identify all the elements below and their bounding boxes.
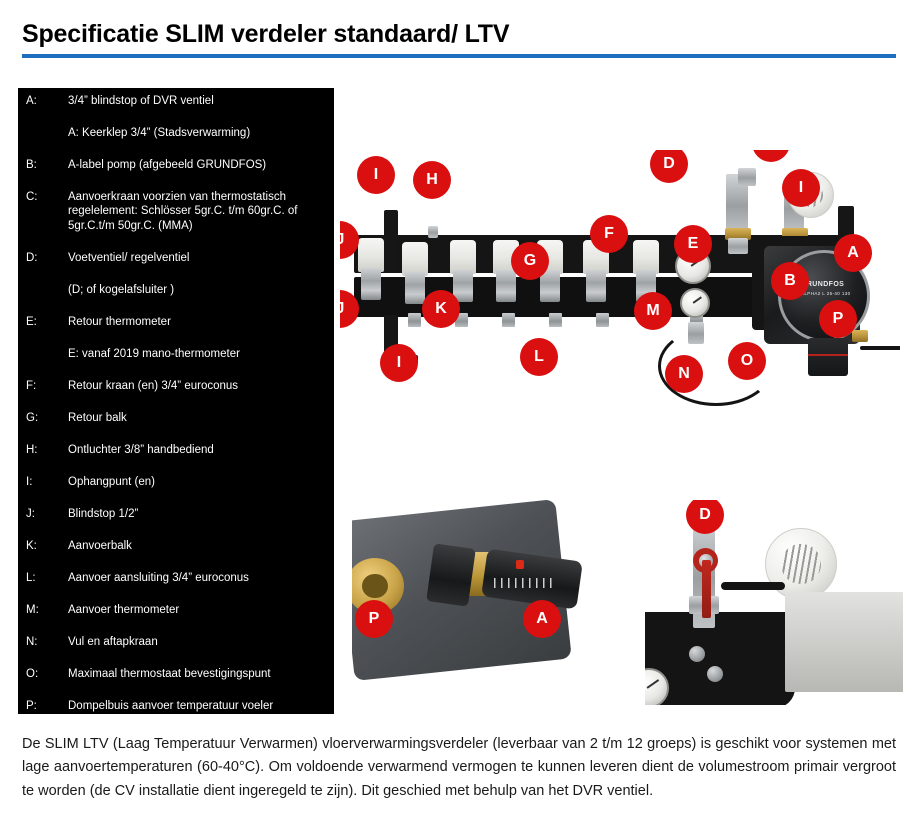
- legend-text: Vul en aftapkraan: [68, 635, 326, 649]
- valve-cap: [633, 240, 659, 274]
- power-cable: [860, 346, 900, 350]
- black-hose: [721, 582, 785, 590]
- callout-badge-f: F: [590, 215, 628, 253]
- legend-text: Retour balk: [68, 411, 326, 425]
- legend-key: J:: [26, 507, 62, 521]
- page-root: Specificatie SLIM verdeler standaard/ LT…: [0, 0, 913, 827]
- legend-key: A:: [26, 94, 62, 108]
- legend-text: Blindstop 1/2”: [68, 507, 326, 521]
- legend-text: Aanvoer thermometer: [68, 603, 326, 617]
- callout-badge-d: D: [650, 150, 688, 183]
- legend-key: O:: [26, 667, 62, 681]
- legend-key: N:: [26, 635, 62, 649]
- legend-text: Dompelbuis aanvoer temperatuur voeler: [68, 699, 326, 713]
- legend-key: D:: [26, 251, 62, 265]
- valve-cap: [358, 238, 384, 272]
- legend-key: L:: [26, 571, 62, 585]
- callout-badge-e: E: [674, 225, 712, 263]
- legend-text: (D; of kogelafsluiter ): [68, 283, 326, 297]
- legend-key: M:: [26, 603, 62, 617]
- legend-key: E:: [26, 315, 62, 329]
- ontluchter-handbediend: [428, 226, 438, 238]
- legend-text: Aanvoerkraan voorzien van thermostatisch…: [68, 190, 326, 233]
- legend-text: Ophangpunt (en): [68, 475, 326, 489]
- valve-body: [496, 270, 516, 302]
- valve-cap: [450, 240, 476, 274]
- callout-badge-m: M: [634, 292, 672, 330]
- legend-key: K:: [26, 539, 62, 553]
- pump-model-label: ALPHA2 L 25-40 130: [801, 291, 851, 296]
- callout-badge-p: P: [819, 300, 857, 338]
- callout-badge-k: K: [422, 290, 460, 328]
- legend-panel: [18, 88, 334, 714]
- legend-text: A-label pomp (afgebeeld GRUNDFOS): [68, 158, 326, 172]
- legend-text: Retour thermometer: [68, 315, 326, 329]
- rode-hendel[interactable]: [702, 560, 711, 618]
- callout-badge-d: D: [686, 500, 724, 534]
- legend-key: C:: [26, 190, 62, 204]
- legend-text: Aanvoer aansluiting 3/4” euroconus: [68, 571, 326, 585]
- knob-setpoint-marker: [516, 560, 524, 569]
- callout-badge-c: C: [752, 150, 790, 162]
- dompelbuis-detail-photo: PA: [352, 500, 614, 705]
- aanvoer-thermometer: [680, 288, 710, 318]
- legend-text: Maximaal thermostaat bevestigingspunt: [68, 667, 326, 681]
- pump-plug: [808, 338, 848, 376]
- bolt: [689, 646, 705, 662]
- grey-cover-box: [785, 592, 903, 692]
- legend-text: Retour kraan (en) 3/4” euroconus: [68, 379, 326, 393]
- bolt: [707, 666, 723, 682]
- ophangpunt-bracket-top: [384, 210, 398, 272]
- legend-text: Aanvoerbalk: [68, 539, 326, 553]
- euroconus-nipple: [502, 313, 515, 327]
- voetventiel-detail-photo: D: [645, 500, 903, 705]
- callout-badge-h: H: [413, 161, 451, 199]
- legend-key: P:: [26, 699, 62, 713]
- callout-badge-i: I: [357, 156, 395, 194]
- legend-text: A: Keerklep 3/4” (Stadsverwarming): [68, 126, 326, 140]
- valve-body: [586, 270, 606, 302]
- legend-key: I:: [26, 475, 62, 489]
- knob-scale: [494, 578, 552, 588]
- legend-text: Voetventiel/ regelventiel: [68, 251, 326, 265]
- legend-key: H:: [26, 443, 62, 457]
- legend-key: B:: [26, 158, 62, 172]
- description-paragraph: De SLIM LTV (Laag Temperatuur Verwarmen)…: [22, 733, 896, 803]
- title-divider: [22, 54, 896, 58]
- voetventiel-coupling: [728, 238, 748, 254]
- euroconus-nipple: [596, 313, 609, 327]
- slim-verdeler-manifold-photo: GRUNDFOS ALPHA2 L 25-40 130 IHJDCIAEBFGJ…: [340, 150, 900, 420]
- legend-key: F:: [26, 379, 62, 393]
- callout-badge-i: I: [782, 169, 820, 207]
- callout-badge-a: A: [523, 600, 561, 638]
- euroconus-nipple: [549, 313, 562, 327]
- legend-text: 3/4” blindstop of DVR ventiel: [68, 94, 326, 108]
- knob-base: [426, 543, 476, 606]
- callout-badge-p: P: [355, 600, 393, 638]
- callout-badge-g: G: [511, 242, 549, 280]
- legend-key: G:: [26, 411, 62, 425]
- valve-body: [405, 272, 425, 304]
- voetventiel-head: [738, 168, 756, 186]
- euroconus-nipple: [408, 313, 421, 327]
- legend-text: Ontluchter 3/8” handbediend: [68, 443, 326, 457]
- callout-badge-l: L: [520, 338, 558, 376]
- callout-badge-b: B: [771, 262, 809, 300]
- valve-body: [361, 268, 381, 300]
- callout-badge-a: A: [834, 234, 872, 272]
- legend-text: E: vanaf 2019 mano-thermometer: [68, 347, 326, 361]
- page-title: Specificatie SLIM verdeler standaard/ LT…: [22, 20, 509, 49]
- callout-badge-i: I: [380, 344, 418, 382]
- callout-badge-o: O: [728, 342, 766, 380]
- callout-badge-n: N: [665, 355, 703, 393]
- valve-cap: [402, 242, 428, 276]
- dompelbuis-fitting: [852, 330, 868, 342]
